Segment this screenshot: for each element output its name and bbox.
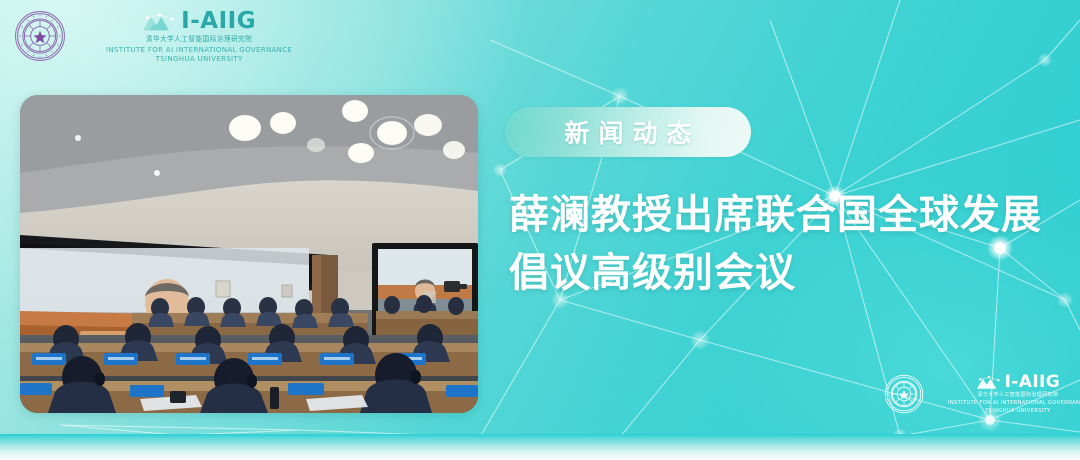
category-badge-label: 新闻动态 — [555, 114, 700, 150]
conference-hall-illustration — [20, 95, 478, 413]
headline-line-2: 倡议高级别会议 — [509, 244, 1049, 302]
footer-brand-name-en-line1: INSTITUTE FOR AI INTERNATIONAL GOVERNANC… — [948, 400, 1080, 407]
brand-name-en-line1: INSTITUTE FOR AI INTERNATIONAL GOVERNANC… — [106, 46, 292, 55]
i-aiig-mountain-mark — [976, 374, 1003, 391]
header-brand-row: I-AIIG — [142, 10, 256, 33]
tsinghua-university-seal — [14, 10, 66, 62]
brand-wordmark: I-AIIG — [181, 10, 256, 33]
footer-brand-name-en-line2: TSINGHUA UNIVERSITY — [985, 408, 1050, 415]
brand-name-cn: 清华大学人工智能国际治理研究院 — [146, 36, 253, 43]
header-brand-lockup: I-AIIG 清华大学人工智能国际治理研究院 INSTITUTE FOR AI … — [14, 8, 292, 64]
brand-name-en-line2: TSINGHUA UNIVERSITY — [156, 55, 243, 64]
footer-brand-lockup: I-AIIG 清华大学人工智能国际治理研究院 INSTITUTE FOR AI … — [884, 374, 1080, 415]
header-brand-text: I-AIIG 清华大学人工智能国际治理研究院 INSTITUTE FOR AI … — [106, 10, 292, 64]
headline-line-1: 薛澜教授出席联合国全球发展 — [509, 186, 1049, 244]
news-banner: I-AIIG 清华大学人工智能国际治理研究院 INSTITUTE FOR AI … — [0, 0, 1080, 460]
page-title: 薛澜教授出席联合国全球发展 倡议高级别会议 — [509, 186, 1049, 302]
footer-brand-text: I-AIIG 清华大学人工智能国际治理研究院 INSTITUTE FOR AI … — [948, 374, 1080, 415]
news-photo — [20, 95, 478, 413]
footer-brand-name-cn: 清华大学人工智能国际治理研究院 — [977, 393, 1058, 398]
category-badge[interactable]: 新闻动态 — [505, 107, 751, 157]
i-aiig-mountain-mark — [142, 11, 178, 33]
footer-brand-wordmark: I-AIIG — [1005, 374, 1061, 391]
tsinghua-university-seal — [884, 374, 924, 414]
bottom-fade-band — [0, 434, 1080, 460]
footer-brand-row: I-AIIG — [976, 374, 1061, 391]
